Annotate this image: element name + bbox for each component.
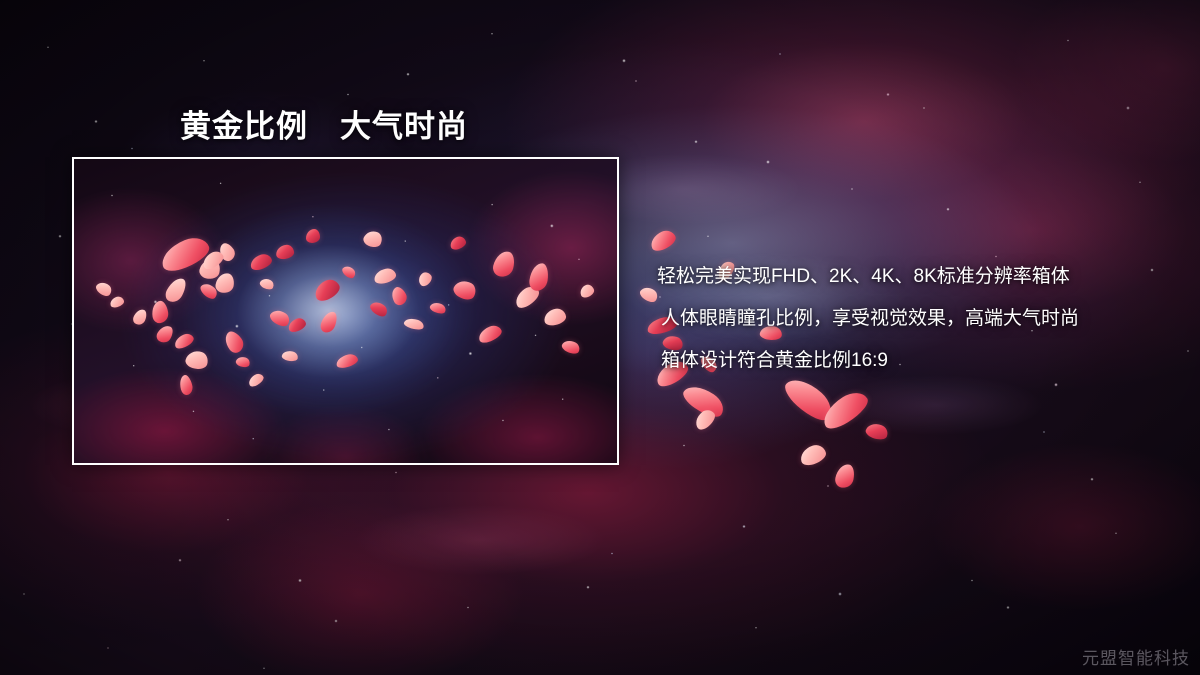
body-line: 轻松完美实现FHD、2K、4K、8K标准分辨率箱体: [657, 256, 1157, 298]
watermark: 元盟智能科技: [1082, 644, 1190, 669]
picture-inner: [74, 159, 617, 463]
framed-image: [72, 157, 619, 465]
petal-icon: [306, 229, 320, 243]
body-line: 箱体设计符合黄金比例16:9: [657, 340, 1157, 382]
body-copy: 轻松完美实现FHD、2K、4K、8K标准分辨率箱体 人体眼睛瞳孔比例，享受视觉效…: [657, 256, 1157, 382]
page-title: 黄金比例 大气时尚: [180, 101, 468, 146]
body-line: 人体眼睛瞳孔比例，享受视觉效果，高端大气时尚: [657, 298, 1157, 340]
slide-canvas: 黄金比例 大气时尚: [0, 0, 1200, 675]
